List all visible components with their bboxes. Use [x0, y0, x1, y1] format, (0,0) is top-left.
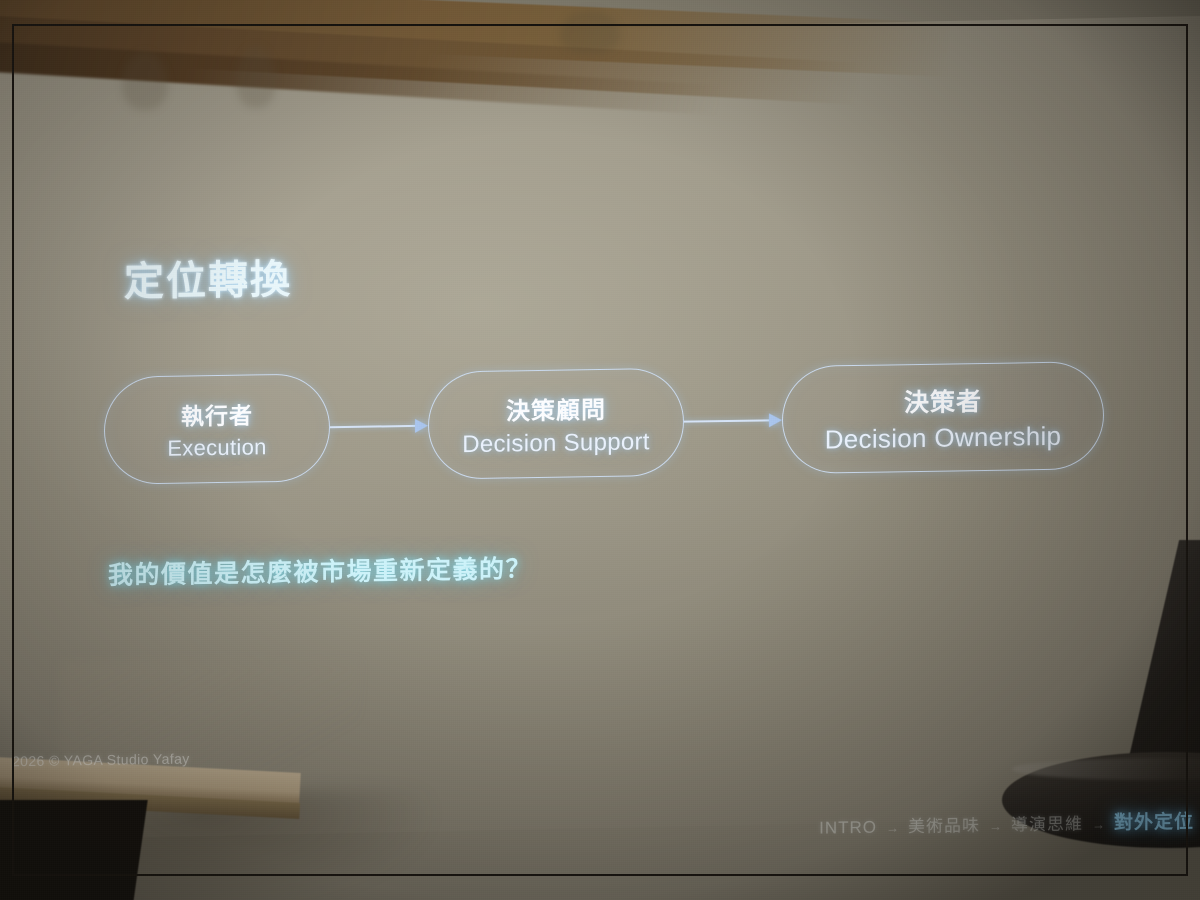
breadcrumb-item-external-positioning[interactable]: 對外定位 [1114, 807, 1194, 835]
flow-node-label-en: Execution [167, 434, 266, 462]
flow-node-decision-support[interactable]: 決策顧問 Decision Support [428, 368, 684, 480]
flow-node-label-cn: 決策顧問 [506, 389, 606, 426]
shelf-shadow-blob-right [236, 46, 276, 108]
breadcrumb-item-intro[interactable]: INTRO [819, 818, 877, 839]
breadcrumb-separator-icon: → [989, 819, 1002, 834]
wooden-shelf-plank-middle [0, 14, 860, 105]
breadcrumb-separator-icon: → [1092, 817, 1105, 832]
breadcrumb-item-art-taste[interactable]: 美術品味 [908, 811, 980, 837]
shelf-shadow-blob-center [560, 10, 620, 54]
flow-node-label-en: Decision Support [462, 428, 650, 459]
arrow-head-icon [769, 413, 782, 427]
breadcrumb-separator-icon: → [886, 820, 899, 835]
projected-slide-scene: 定位轉換 執行者 Execution 決策顧問 Decision Support… [0, 0, 1200, 900]
flow-node-label-cn: 決策者 [904, 381, 982, 418]
flow-arrow-1 [330, 420, 428, 434]
page-title: 定位轉換 [124, 247, 292, 308]
flow-node-label-cn: 執行者 [181, 396, 253, 431]
breadcrumb-item-director-mindset[interactable]: 導演思維 [1011, 809, 1083, 835]
flow-diagram: 執行者 Execution 決策顧問 Decision Support 決策者 … [104, 354, 1104, 492]
monitor-silhouette [1125, 540, 1200, 775]
wooden-shelf-plank-lower [0, 40, 720, 115]
arrow-head-icon [415, 419, 428, 433]
wooden-shelf-plank-upper [0, 0, 950, 77]
flow-node-decision-ownership[interactable]: 決策者 Decision Ownership [782, 361, 1104, 474]
arrow-line [684, 420, 770, 423]
flow-node-label-en: Decision Ownership [825, 420, 1062, 455]
flow-node-execution[interactable]: 執行者 Execution [104, 373, 330, 485]
slide-question: 我的價值是怎麼被市場重新定義的？ [108, 549, 532, 592]
copyright-notice: 2026 © YAGA Studio Yafay [12, 750, 190, 769]
wooden-table-leg [0, 800, 148, 900]
arrow-line [330, 425, 416, 428]
shelf-shadow-blob-left [122, 52, 168, 110]
flow-arrow-2 [684, 414, 782, 428]
